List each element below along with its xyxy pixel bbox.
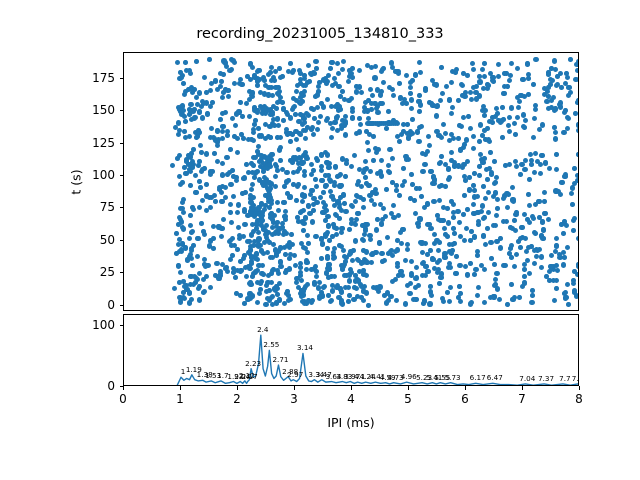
scatter-point bbox=[244, 274, 249, 279]
scatter-point bbox=[328, 66, 333, 71]
scatter-point bbox=[462, 238, 467, 243]
scatter-point bbox=[257, 133, 262, 138]
scatter-point bbox=[500, 135, 505, 140]
scatter-point bbox=[340, 226, 345, 231]
scatter-point bbox=[462, 142, 467, 147]
scatter-point bbox=[432, 232, 437, 237]
scatter-point bbox=[371, 134, 376, 139]
scatter-point bbox=[256, 126, 261, 131]
scatter-point bbox=[296, 219, 301, 224]
scatter-point bbox=[310, 219, 315, 224]
scatter-point bbox=[211, 224, 216, 229]
scatter-point bbox=[195, 236, 200, 241]
scatter-point bbox=[179, 75, 184, 80]
scatter-point bbox=[353, 199, 358, 204]
scatter-point bbox=[565, 282, 570, 287]
scatter-point bbox=[185, 257, 190, 262]
scatter-point bbox=[554, 286, 559, 291]
scatter-point bbox=[302, 185, 307, 190]
scatter-point bbox=[248, 247, 253, 252]
scatter-point bbox=[510, 197, 515, 202]
scatter-point bbox=[547, 166, 552, 171]
scatter-point bbox=[235, 247, 240, 252]
histogram-curve bbox=[124, 315, 579, 386]
scatter-point bbox=[415, 129, 420, 134]
scatter-point bbox=[315, 158, 320, 163]
histogram-y-tick-label: 0 bbox=[61, 379, 115, 393]
scatter-point bbox=[174, 251, 179, 256]
scatter-point bbox=[280, 100, 285, 105]
scatter-point bbox=[261, 226, 266, 231]
scatter-point bbox=[462, 193, 467, 198]
scatter-point bbox=[219, 199, 224, 204]
scatter-point bbox=[311, 196, 316, 201]
scatter-point bbox=[531, 216, 536, 221]
scatter-point bbox=[204, 90, 209, 95]
scatter-point bbox=[542, 190, 547, 195]
scatter-point bbox=[514, 252, 519, 257]
scatter-point bbox=[354, 89, 359, 94]
scatter-point bbox=[387, 170, 392, 175]
scatter-point bbox=[508, 225, 513, 230]
scatter-point bbox=[475, 253, 480, 258]
scatter-point bbox=[263, 122, 268, 127]
scatter-point bbox=[323, 232, 328, 237]
scatter-point bbox=[311, 168, 316, 173]
scatter-point bbox=[228, 210, 233, 215]
scatter-point bbox=[449, 132, 454, 137]
scatter-point bbox=[436, 133, 441, 138]
scatter-point bbox=[448, 285, 453, 290]
scatter-point bbox=[311, 107, 316, 112]
scatter-point bbox=[561, 231, 566, 236]
scatter-point bbox=[498, 245, 503, 250]
histogram-x-tick-mark bbox=[294, 386, 295, 390]
scatter-point bbox=[220, 172, 225, 177]
scatter-point bbox=[294, 89, 299, 94]
scatter-point bbox=[554, 152, 559, 157]
scatter-point bbox=[204, 151, 209, 156]
scatter-point bbox=[548, 82, 553, 87]
scatter-point bbox=[275, 200, 280, 205]
scatter-point bbox=[445, 290, 450, 295]
scatter-point bbox=[197, 284, 202, 289]
scatter-point bbox=[194, 135, 199, 140]
scatter-point bbox=[390, 156, 395, 161]
scatter-point bbox=[358, 122, 363, 127]
scatter-point bbox=[494, 213, 499, 218]
scatter-point bbox=[391, 215, 396, 220]
scatter-point bbox=[491, 294, 496, 299]
scatter-point bbox=[337, 104, 342, 109]
scatter-point bbox=[329, 274, 334, 279]
scatter-point bbox=[576, 128, 579, 133]
scatter-point bbox=[494, 271, 499, 276]
scatter-point bbox=[379, 251, 384, 256]
scatter-point bbox=[471, 134, 476, 139]
scatter-point bbox=[306, 241, 311, 246]
raster-y-tick-mark bbox=[120, 110, 124, 111]
scatter-point bbox=[332, 255, 337, 260]
scatter-point bbox=[403, 258, 408, 263]
scatter-point bbox=[468, 261, 473, 266]
histogram-x-tick-label: 7 bbox=[518, 392, 526, 406]
scatter-point bbox=[183, 60, 188, 65]
scatter-point bbox=[361, 197, 366, 202]
scatter-point bbox=[226, 94, 231, 99]
scatter-point bbox=[450, 248, 455, 253]
scatter-point bbox=[522, 167, 527, 172]
scatter-point bbox=[252, 175, 257, 180]
scatter-point bbox=[298, 71, 303, 76]
scatter-point bbox=[256, 68, 261, 73]
scatter-point bbox=[341, 248, 346, 253]
scatter-point bbox=[532, 170, 537, 175]
scatter-point bbox=[326, 293, 331, 298]
scatter-point bbox=[213, 199, 218, 204]
scatter-point bbox=[242, 253, 247, 258]
scatter-point bbox=[386, 163, 391, 168]
scatter-point bbox=[249, 261, 254, 266]
scatter-point bbox=[316, 120, 321, 125]
scatter-point bbox=[327, 266, 332, 271]
scatter-point bbox=[183, 171, 188, 176]
scatter-point bbox=[469, 300, 474, 305]
scatter-point bbox=[457, 284, 462, 289]
scatter-point bbox=[335, 61, 340, 66]
scatter-point bbox=[298, 81, 303, 86]
scatter-point bbox=[407, 291, 412, 296]
scatter-point bbox=[443, 184, 448, 189]
scatter-point bbox=[420, 151, 425, 156]
scatter-point bbox=[329, 104, 334, 109]
scatter-point bbox=[215, 128, 220, 133]
scatter-point bbox=[211, 236, 216, 241]
scatter-point bbox=[414, 186, 419, 191]
scatter-point bbox=[207, 57, 212, 62]
scatter-point bbox=[325, 246, 330, 251]
raster-y-tick-mark bbox=[120, 272, 124, 273]
scatter-point bbox=[474, 96, 479, 101]
scatter-point bbox=[413, 297, 418, 302]
scatter-point bbox=[465, 272, 470, 277]
scatter-point bbox=[247, 114, 252, 119]
scatter-point bbox=[252, 105, 257, 110]
scatter-point bbox=[298, 210, 303, 215]
scatter-point bbox=[219, 234, 224, 239]
scatter-point bbox=[304, 154, 309, 159]
scatter-point bbox=[449, 150, 454, 155]
scatter-point bbox=[261, 183, 266, 188]
scatter-point bbox=[379, 221, 384, 226]
scatter-point bbox=[319, 256, 324, 261]
scatter-point bbox=[426, 134, 431, 139]
scatter-point bbox=[281, 200, 286, 205]
scatter-point bbox=[247, 266, 252, 271]
scatter-point bbox=[212, 193, 217, 198]
scatter-point bbox=[298, 95, 303, 100]
scatter-point bbox=[573, 77, 578, 82]
histogram-y-tick-label: 100 bbox=[61, 318, 115, 332]
scatter-point bbox=[314, 269, 319, 274]
raster-y-tick-mark bbox=[120, 207, 124, 208]
scatter-point bbox=[330, 83, 335, 88]
scatter-point bbox=[265, 238, 270, 243]
scatter-point bbox=[516, 239, 521, 244]
scatter-point bbox=[176, 263, 181, 268]
scatter-point bbox=[390, 279, 395, 284]
scatter-point bbox=[565, 126, 570, 131]
histogram-x-axis-label: IPI (ms) bbox=[327, 415, 374, 430]
scatter-point bbox=[181, 197, 186, 202]
scatter-point bbox=[522, 125, 527, 130]
scatter-point bbox=[476, 285, 481, 290]
scatter-point bbox=[182, 129, 187, 134]
scatter-point bbox=[523, 236, 528, 241]
scatter-point bbox=[332, 246, 337, 251]
scatter-point bbox=[365, 108, 370, 113]
scatter-point bbox=[480, 67, 485, 72]
scatter-point bbox=[475, 194, 480, 199]
scatter-point bbox=[272, 78, 277, 83]
scatter-point bbox=[257, 159, 262, 164]
scatter-point bbox=[374, 106, 379, 111]
scatter-point bbox=[197, 205, 202, 210]
scatter-point bbox=[237, 233, 242, 238]
scatter-point bbox=[188, 71, 193, 76]
scatter-point bbox=[329, 60, 334, 65]
scatter-point bbox=[568, 57, 573, 62]
scatter-point bbox=[255, 300, 260, 305]
scatter-point bbox=[481, 233, 486, 238]
scatter-point bbox=[428, 226, 433, 231]
scatter-point bbox=[447, 138, 452, 143]
scatter-point bbox=[452, 231, 457, 236]
raster-y-tick-mark bbox=[120, 78, 124, 79]
scatter-point bbox=[351, 248, 356, 253]
scatter-point bbox=[296, 147, 301, 152]
scatter-point bbox=[276, 271, 281, 276]
scatter-point bbox=[238, 259, 243, 264]
scatter-point bbox=[500, 105, 505, 110]
scatter-point bbox=[299, 278, 304, 283]
scatter-point bbox=[236, 109, 241, 114]
scatter-point bbox=[332, 76, 337, 81]
scatter-point bbox=[509, 282, 514, 287]
scatter-point bbox=[559, 85, 564, 90]
scatter-point bbox=[495, 206, 500, 211]
scatter-point bbox=[527, 271, 532, 276]
histogram-x-tick-mark bbox=[237, 386, 238, 390]
scatter-point bbox=[188, 223, 193, 228]
scatter-point bbox=[315, 127, 320, 132]
scatter-point bbox=[458, 147, 463, 152]
scatter-point bbox=[252, 73, 257, 78]
scatter-point bbox=[365, 140, 370, 145]
scatter-point bbox=[482, 156, 487, 161]
scatter-point bbox=[430, 256, 435, 261]
raster-y-tick-mark bbox=[120, 175, 124, 176]
scatter-point bbox=[510, 297, 515, 302]
scatter-point bbox=[403, 301, 408, 306]
scatter-point bbox=[183, 119, 188, 124]
scatter-point bbox=[324, 118, 329, 123]
scatter-point bbox=[286, 298, 291, 303]
scatter-point bbox=[305, 80, 310, 85]
scatter-point bbox=[350, 115, 355, 120]
scatter-point bbox=[483, 137, 488, 142]
scatter-point bbox=[427, 301, 432, 306]
scatter-point bbox=[519, 225, 524, 230]
scatter-point bbox=[505, 84, 510, 89]
scatter-point bbox=[546, 72, 551, 77]
scatter-point bbox=[418, 70, 423, 75]
scatter-point bbox=[476, 222, 481, 227]
scatter-point bbox=[422, 162, 427, 167]
scatter-point bbox=[177, 174, 182, 179]
scatter-point bbox=[554, 189, 559, 194]
scatter-point bbox=[384, 126, 389, 131]
scatter-point bbox=[413, 276, 418, 281]
scatter-point bbox=[522, 267, 527, 272]
scatter-point bbox=[273, 174, 278, 179]
scatter-point bbox=[349, 221, 354, 226]
scatter-point bbox=[275, 116, 280, 121]
scatter-point bbox=[282, 214, 287, 219]
scatter-point bbox=[220, 95, 225, 100]
scatter-point bbox=[493, 223, 498, 228]
scatter-point bbox=[542, 211, 547, 216]
scatter-point bbox=[512, 121, 517, 126]
histogram-x-tick-mark bbox=[579, 386, 580, 390]
scatter-point bbox=[194, 59, 199, 64]
scatter-point bbox=[488, 240, 493, 245]
scatter-point bbox=[395, 247, 400, 252]
scatter-point bbox=[208, 285, 213, 290]
scatter-point bbox=[343, 120, 348, 125]
scatter-point bbox=[432, 82, 437, 87]
scatter-point bbox=[534, 254, 539, 259]
scatter-point bbox=[447, 299, 452, 304]
scatter-point bbox=[438, 98, 443, 103]
scatter-point bbox=[326, 173, 331, 178]
scatter-point bbox=[554, 236, 559, 241]
scatter-point bbox=[349, 164, 354, 169]
scatter-point bbox=[446, 166, 451, 171]
scatter-point bbox=[213, 78, 218, 83]
scatter-point bbox=[174, 231, 179, 236]
scatter-point bbox=[202, 75, 207, 80]
scatter-point bbox=[576, 236, 579, 241]
scatter-point bbox=[321, 200, 326, 205]
scatter-point bbox=[530, 288, 535, 293]
scatter-point bbox=[172, 286, 177, 291]
scatter-point bbox=[386, 251, 391, 256]
scatter-point bbox=[400, 227, 405, 232]
scatter-point bbox=[357, 116, 362, 121]
scatter-point bbox=[480, 203, 485, 208]
scatter-point bbox=[509, 255, 514, 260]
scatter-point bbox=[231, 194, 236, 199]
scatter-point bbox=[485, 226, 490, 231]
scatter-point bbox=[198, 185, 203, 190]
histogram-x-tick-label: 4 bbox=[347, 392, 355, 406]
scatter-point bbox=[304, 260, 309, 265]
scatter-point bbox=[197, 179, 202, 184]
scatter-point bbox=[281, 106, 286, 111]
histogram-y-tick-mark bbox=[120, 325, 124, 326]
scatter-point bbox=[193, 190, 198, 195]
scatter-point bbox=[540, 219, 545, 224]
scatter-point bbox=[294, 280, 299, 285]
scatter-point bbox=[328, 299, 333, 304]
scatter-point bbox=[420, 169, 425, 174]
scatter-point bbox=[338, 183, 343, 188]
scatter-point bbox=[552, 58, 557, 63]
scatter-point bbox=[405, 122, 410, 127]
histogram-x-tick-label: 1 bbox=[176, 392, 184, 406]
scatter-point bbox=[374, 227, 379, 232]
scatter-point bbox=[384, 187, 389, 192]
scatter-point bbox=[283, 270, 288, 275]
scatter-point bbox=[242, 301, 247, 306]
scatter-point bbox=[215, 143, 220, 148]
scatter-point bbox=[521, 112, 526, 117]
scatter-point bbox=[482, 300, 487, 305]
scatter-point bbox=[361, 205, 366, 210]
raster-y-tick-mark bbox=[120, 240, 124, 241]
scatter-point bbox=[531, 135, 536, 140]
scatter-point bbox=[319, 101, 324, 106]
scatter-point bbox=[495, 197, 500, 202]
scatter-point bbox=[492, 159, 497, 164]
scatter-point bbox=[220, 161, 225, 166]
scatter-point bbox=[363, 175, 368, 180]
scatter-point bbox=[199, 221, 204, 226]
scatter-point bbox=[395, 238, 400, 243]
scatter-point bbox=[289, 232, 294, 237]
scatter-point bbox=[401, 166, 406, 171]
scatter-point bbox=[437, 198, 442, 203]
scatter-point bbox=[518, 245, 523, 250]
scatter-point bbox=[485, 177, 490, 182]
scatter-point bbox=[371, 285, 376, 290]
scatter-point bbox=[201, 277, 206, 282]
scatter-point bbox=[395, 121, 400, 126]
scatter-point bbox=[472, 272, 477, 277]
scatter-point bbox=[508, 246, 513, 251]
scatter-point bbox=[533, 231, 538, 236]
scatter-point bbox=[482, 128, 487, 133]
scatter-point bbox=[570, 202, 575, 207]
raster-y-tick-label: 150 bbox=[61, 103, 115, 117]
scatter-point bbox=[181, 226, 186, 231]
scatter-point bbox=[477, 139, 482, 144]
scatter-point bbox=[287, 242, 292, 247]
scatter-point bbox=[501, 91, 506, 96]
scatter-point bbox=[552, 125, 557, 130]
scatter-point bbox=[466, 114, 471, 119]
scatter-point bbox=[554, 243, 559, 248]
scatter-point bbox=[341, 59, 346, 64]
scatter-point bbox=[395, 261, 400, 266]
scatter-point bbox=[416, 224, 421, 229]
scatter-point bbox=[294, 137, 299, 142]
scatter-point bbox=[313, 234, 318, 239]
scatter-point bbox=[275, 168, 280, 173]
scatter-point bbox=[368, 87, 373, 92]
scatter-point bbox=[419, 124, 424, 129]
